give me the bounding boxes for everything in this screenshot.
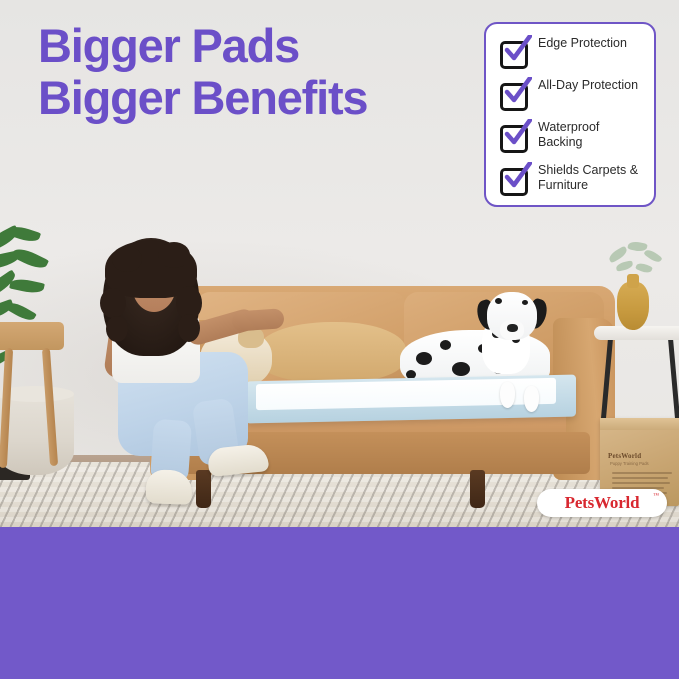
- feature-label: All-Day Protection: [538, 78, 638, 93]
- bottom-banner: More Coverage Fewer Replacements: [0, 527, 679, 679]
- checkbox-checked-icon: [498, 79, 528, 107]
- feature-item: Waterproof Backing: [498, 120, 644, 150]
- headline-line-2: Bigger Benefits: [38, 72, 458, 124]
- dalmatian-paw: [524, 386, 539, 412]
- feature-item: Shields Carpets & Furniture: [498, 163, 644, 193]
- couch-leg: [470, 470, 485, 508]
- trademark-symbol: ™: [653, 493, 659, 499]
- gold-vase: [617, 282, 649, 330]
- vase-neck: [627, 274, 639, 288]
- headline: Bigger Pads Bigger Benefits: [38, 20, 458, 124]
- box-subtitle-text: Puppy Training Pads: [610, 461, 676, 466]
- dalmatian-nose: [507, 324, 518, 332]
- feature-item: Edge Protection: [498, 36, 644, 65]
- couch-leg: [196, 470, 211, 508]
- brand-logo-text: PetsWorld: [565, 493, 640, 513]
- feature-label: Edge Protection: [538, 36, 627, 51]
- checkbox-checked-icon: [498, 37, 528, 65]
- brand-logo-badge: PetsWorld ™: [537, 489, 667, 517]
- feature-item: All-Day Protection: [498, 78, 644, 107]
- box-brand-text: PetsWorld: [608, 452, 676, 460]
- checkbox-checked-icon: [498, 164, 528, 192]
- checkbox-checked-icon: [498, 121, 528, 149]
- woman-hand: [231, 308, 284, 332]
- feature-list-card: Edge Protection All-Day Protection Water…: [484, 22, 656, 207]
- product-box-flap: [600, 418, 679, 430]
- feature-label: Waterproof Backing: [538, 120, 644, 150]
- feature-label: Shields Carpets & Furniture: [538, 163, 644, 193]
- dalmatian-paw: [500, 382, 515, 408]
- bulldog-body: [256, 322, 406, 382]
- wooden-stool: [0, 322, 64, 350]
- product-marketing-image: PetsWorld Puppy Training Pads PetsWorld …: [0, 0, 679, 679]
- headline-line-1: Bigger Pads: [38, 20, 458, 72]
